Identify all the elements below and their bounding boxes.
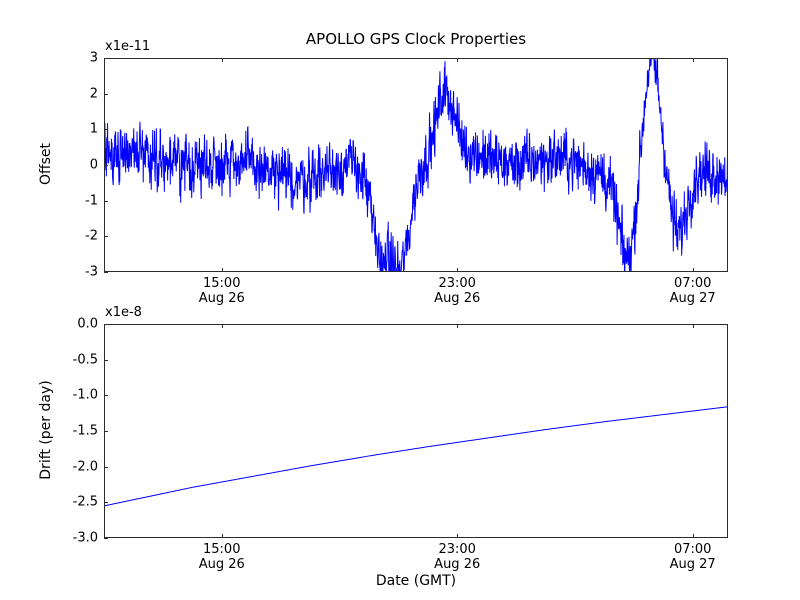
y-tick-label: -0.5 [46,352,98,367]
y-tick-label: -2.5 [46,495,98,510]
y-tick-mark [104,467,108,468]
y-tick-label: -3.0 [46,531,98,546]
y-tick-mark [104,360,108,361]
y-tick-mark [104,324,108,325]
x-tick-mark [457,534,458,538]
x-tick-time: 15:00 [203,542,240,557]
x-tick-mark-top [693,324,694,328]
drift-data-layer [0,0,800,600]
matplotlib-figure: APOLLO GPS Clock Properties x1e-11 Offse… [0,0,800,600]
data-line-drift-panel [104,407,728,506]
x-tick-time: 07:00 [674,542,711,557]
x-tick-mark-top [457,324,458,328]
y-tick-label: 0.0 [46,317,98,332]
x-tick-label: 23:00Aug 26 [434,543,480,572]
x-tick-label: 15:00Aug 26 [199,543,245,572]
x-tick-time: 23:00 [438,542,475,557]
y-tick-mark [104,431,108,432]
y-tick-label: -2.0 [46,459,98,474]
y-tick-label: -1.0 [46,388,98,403]
x-tick-mark [693,534,694,538]
x-tick-date: Aug 26 [199,557,245,572]
x-tick-label: 07:00Aug 27 [670,543,716,572]
y-tick-mark [104,395,108,396]
x-tick-date: Aug 27 [670,557,716,572]
x-tick-mark [222,534,223,538]
drift-x-axis-label: Date (GMT) [104,573,728,589]
y-tick-mark [104,502,108,503]
x-tick-mark-top [222,324,223,328]
y-tick-label: -1.5 [46,424,98,439]
y-tick-mark [104,538,108,539]
x-tick-date: Aug 26 [434,557,480,572]
